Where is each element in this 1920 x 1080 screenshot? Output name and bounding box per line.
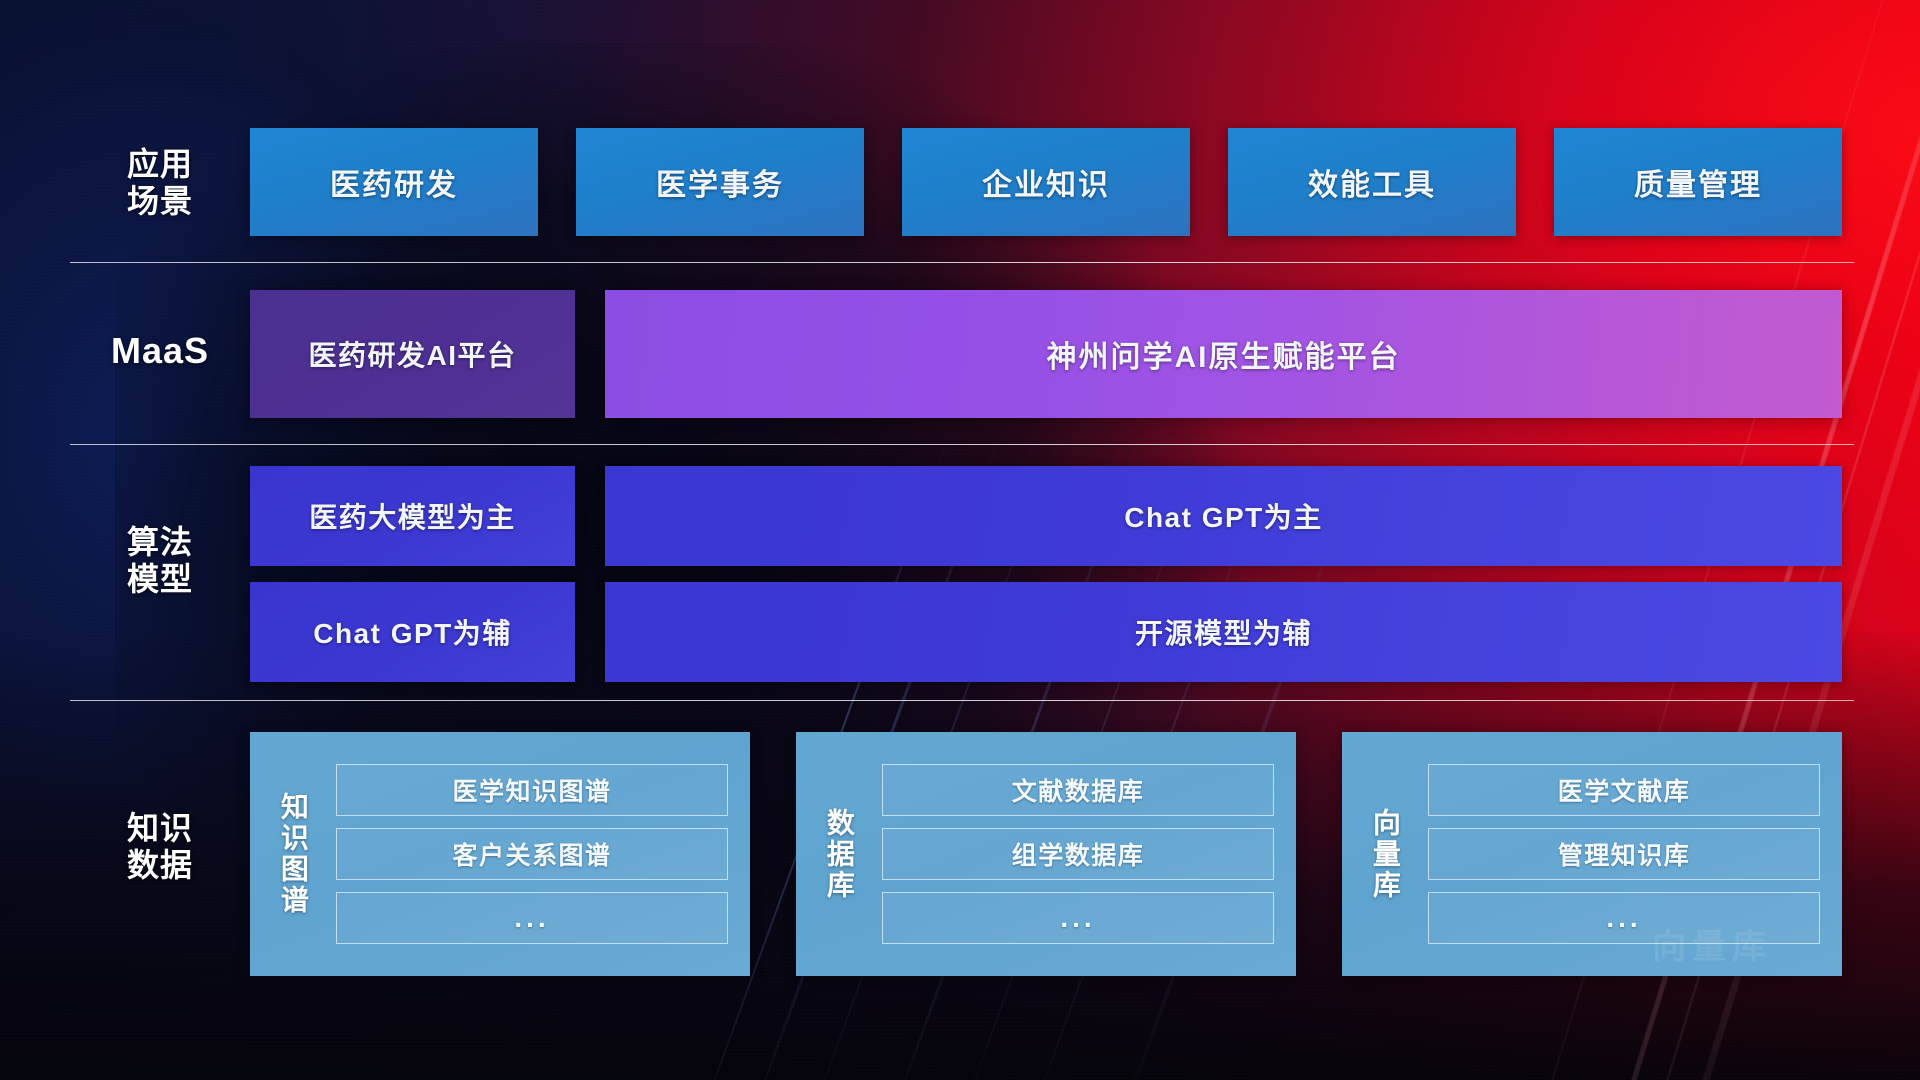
row-label-knowledge-data: 知识 数据	[70, 810, 250, 884]
knowledge-item-more[interactable]: ...	[882, 892, 1274, 944]
app-scenario-label: 效能工具	[1308, 160, 1436, 204]
row-divider	[70, 700, 1854, 701]
knowledge-group-item-list: 文献数据库 组学数据库 ...	[882, 732, 1296, 976]
algorithm-primary-left-box[interactable]: 医药大模型为主	[250, 466, 575, 566]
knowledge-group-panel[interactable]: 向量库 医学文献库 管理知识库 ...	[1342, 732, 1842, 976]
row-label-application-scenarios: 应用 场景	[70, 146, 250, 220]
app-scenario-box[interactable]: 质量管理	[1554, 128, 1842, 236]
maas-platform-label: 医药研发AI平台	[308, 334, 516, 374]
algorithm-primary-wide-box[interactable]: Chat GPT为主	[605, 466, 1842, 566]
maas-enablement-platform-box[interactable]: 神州问学AI原生赋能平台	[605, 290, 1842, 418]
row-divider	[70, 262, 1854, 263]
knowledge-group-item-list: 医学知识图谱 客户关系图谱 ...	[336, 732, 750, 976]
algorithm-secondary-left-box[interactable]: Chat GPT为辅	[250, 582, 575, 682]
knowledge-item[interactable]: 管理知识库	[1428, 828, 1820, 880]
knowledge-group-item-list: 医学文献库 管理知识库 ...	[1428, 732, 1842, 976]
algorithm-box-label: Chat GPT为主	[1124, 496, 1323, 536]
row-divider	[70, 444, 1854, 445]
app-scenario-box[interactable]: 效能工具	[1228, 128, 1516, 236]
row-label-line: MaaS	[70, 330, 250, 372]
maas-platform-box[interactable]: 医药研发AI平台	[250, 290, 575, 418]
algorithm-box-label: 开源模型为辅	[1135, 612, 1312, 652]
app-scenario-box[interactable]: 企业知识	[902, 128, 1190, 236]
row-label-line: 数据	[70, 847, 250, 884]
knowledge-item[interactable]: 组学数据库	[882, 828, 1274, 880]
algorithm-secondary-wide-box[interactable]: 开源模型为辅	[605, 582, 1842, 682]
knowledge-item[interactable]: 医学文献库	[1428, 764, 1820, 816]
maas-enablement-platform-label: 神州问学AI原生赋能平台	[1047, 332, 1401, 376]
app-scenario-label: 质量管理	[1634, 160, 1762, 204]
knowledge-item[interactable]: 客户关系图谱	[336, 828, 728, 880]
row-label-algorithm-models: 算法 模型	[70, 524, 250, 598]
row-label-line: 应用	[70, 146, 250, 183]
app-scenario-label: 医学事务	[656, 160, 784, 204]
knowledge-item-more[interactable]: ...	[336, 892, 728, 944]
app-scenario-label: 医药研发	[330, 160, 458, 204]
algorithm-box-label: Chat GPT为辅	[313, 612, 512, 652]
architecture-diagram: 应用 场景 医药研发 医学事务 企业知识 效能工具 质量管理 MaaS 医药研发…	[0, 0, 1920, 1080]
row-label-line: 模型	[70, 561, 250, 598]
row-label-line: 场景	[70, 183, 250, 220]
knowledge-item-more[interactable]: ...	[1428, 892, 1820, 944]
app-scenario-label: 企业知识	[982, 160, 1110, 204]
app-scenario-box[interactable]: 医学事务	[576, 128, 864, 236]
algorithm-box-label: 医药大模型为主	[309, 496, 516, 536]
knowledge-group-title: 知识图谱	[250, 732, 336, 976]
row-label-line: 算法	[70, 524, 250, 561]
knowledge-item[interactable]: 文献数据库	[882, 764, 1274, 816]
knowledge-group-title: 向量库	[1342, 732, 1428, 976]
row-label-line: 知识	[70, 810, 250, 847]
knowledge-group-title: 数据库	[796, 732, 882, 976]
knowledge-group-panel[interactable]: 知识图谱 医学知识图谱 客户关系图谱 ...	[250, 732, 750, 976]
knowledge-group-panel[interactable]: 数据库 文献数据库 组学数据库 ...	[796, 732, 1296, 976]
app-scenario-box[interactable]: 医药研发	[250, 128, 538, 236]
row-label-maas: MaaS	[70, 330, 250, 372]
knowledge-item[interactable]: 医学知识图谱	[336, 764, 728, 816]
